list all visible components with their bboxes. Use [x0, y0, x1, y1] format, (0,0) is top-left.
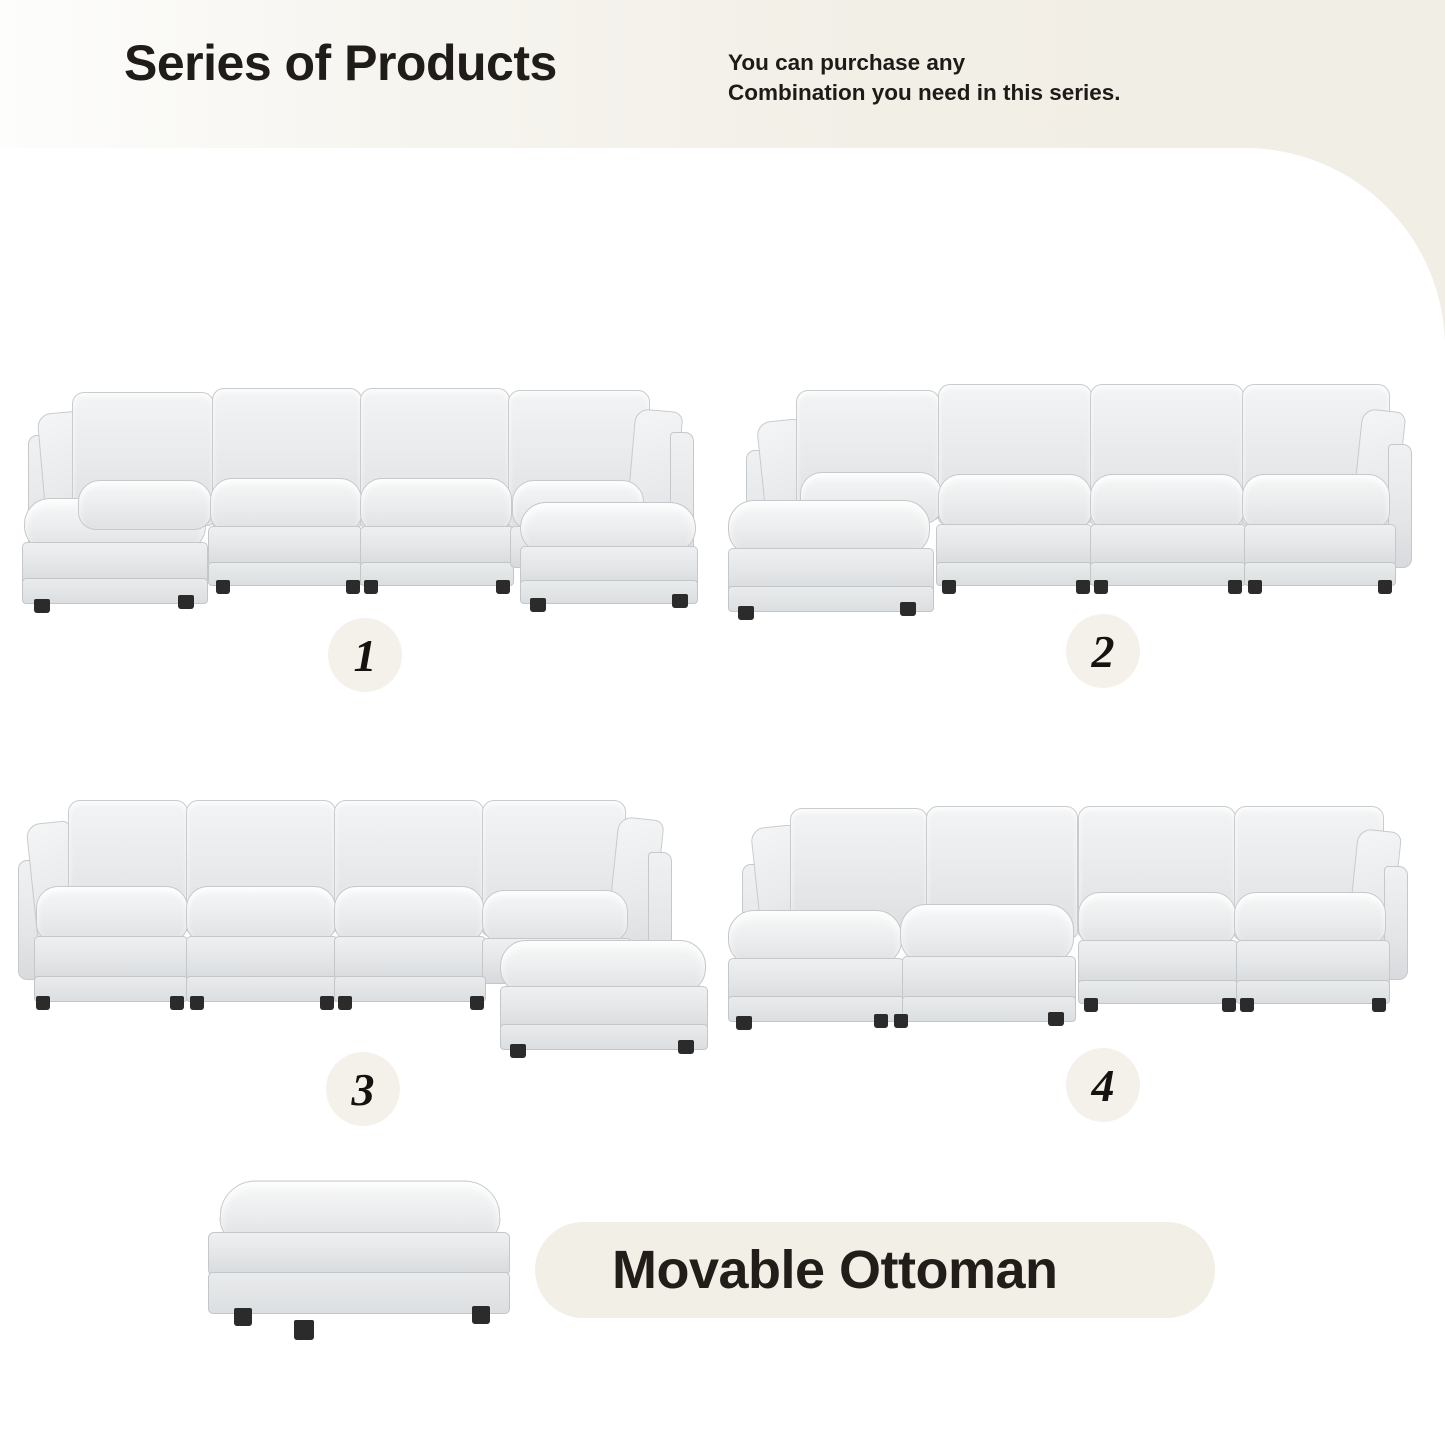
configuration-2-image — [728, 372, 1428, 602]
header-subtitle: You can purchase any Combination you nee… — [728, 48, 1121, 108]
movable-ottoman-image — [200, 1180, 560, 1365]
subtitle-line-1: You can purchase any — [728, 48, 1121, 78]
configuration-badge-3: 3 — [326, 1052, 400, 1126]
movable-ottoman-label: Movable Ottoman — [612, 1232, 1212, 1308]
configuration-badge-4: 4 — [1066, 1048, 1140, 1122]
configuration-badge-1: 1 — [328, 618, 402, 692]
page-title: Series of Products — [124, 38, 557, 88]
configuration-3-image — [14, 782, 714, 1032]
configuration-4-image — [728, 782, 1428, 1012]
configuration-badge-2: 2 — [1066, 614, 1140, 688]
configuration-1-image — [20, 380, 710, 610]
subtitle-line-2: Combination you need in this series. — [728, 78, 1121, 108]
product-series-poster: Series of Products You can purchase any … — [0, 0, 1445, 1445]
